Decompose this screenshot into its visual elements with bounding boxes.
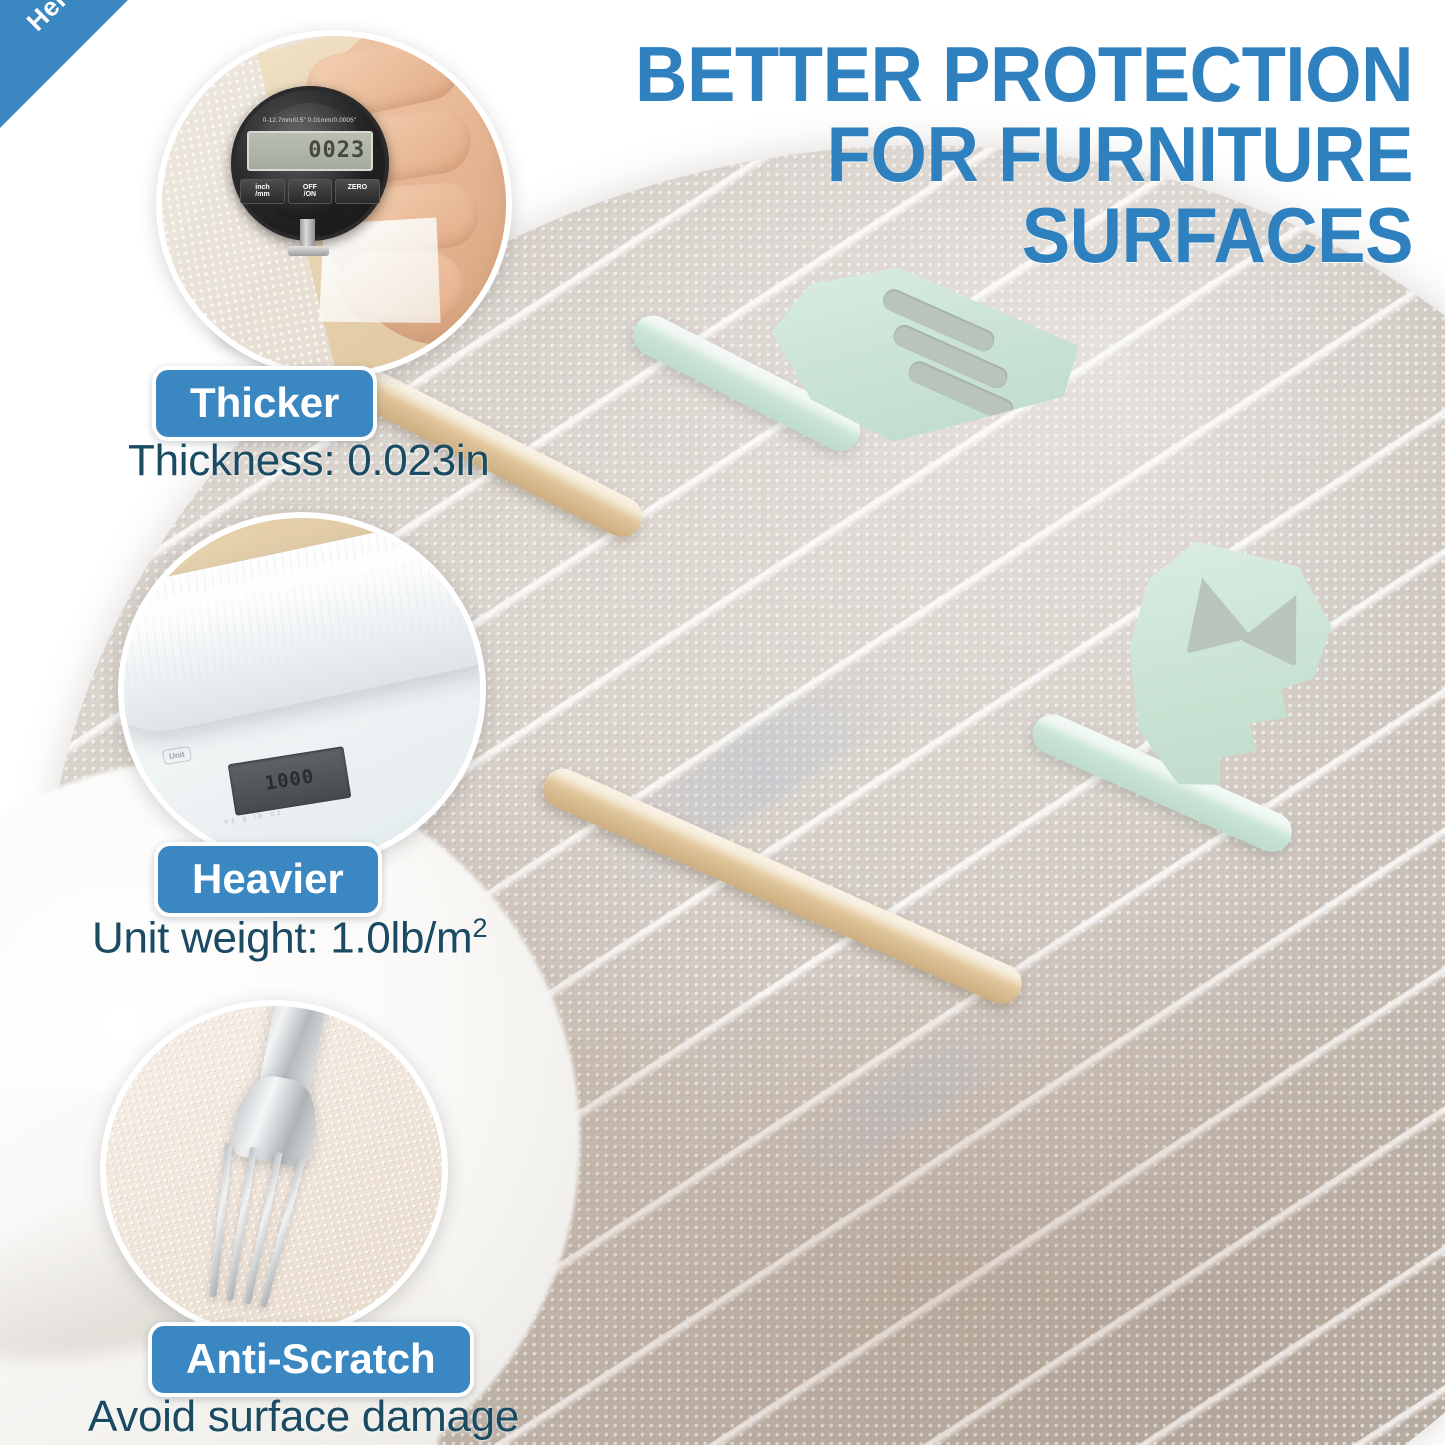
pasta-server-cutout-left bbox=[1169, 569, 1252, 653]
feature-photo-scratch bbox=[100, 1000, 448, 1340]
gauge-foot bbox=[288, 246, 329, 257]
title-line-1: BETTER PROTECTION bbox=[576, 34, 1413, 114]
fork-tine-4 bbox=[259, 1156, 306, 1307]
feature-photo-thickness: 0-12.7mm/0.5" 0.01mm/0.0005" 0023 inch/m… bbox=[156, 30, 512, 378]
pasta-server bbox=[1040, 520, 1445, 1160]
pasta-server-cutout-right bbox=[1240, 582, 1324, 668]
gauge-zero-button[interactable]: ZERO bbox=[335, 179, 379, 204]
caption-scratch: Avoid surface damage bbox=[88, 1392, 519, 1442]
badge-anti-scratch: Anti-Scratch bbox=[148, 1322, 474, 1397]
gauge-lcd: 0023 bbox=[247, 131, 374, 171]
title-line-2: FOR FURNITURE bbox=[576, 114, 1413, 194]
gauge-spec-label: 0-12.7mm/0.5" 0.01mm/0.0005" bbox=[249, 118, 371, 124]
spatula-head bbox=[741, 249, 1089, 467]
page-title: BETTER PROTECTION FOR FURNITURE SURFACES bbox=[576, 34, 1413, 275]
badge-heavier: Heavier bbox=[154, 842, 382, 917]
gauge-off-on-button[interactable]: OFF/ON bbox=[288, 179, 332, 204]
caption-weight-exponent: 2 bbox=[472, 912, 487, 943]
product-infographic: Hersvin BETTER PROTECTION FOR FURNITURE … bbox=[0, 0, 1445, 1445]
digital-thickness-gauge: 0-12.7mm/0.5" 0.01mm/0.0005" 0023 inch/m… bbox=[231, 86, 389, 241]
caption-weight: Unit weight: 1.0lb/m2 bbox=[92, 912, 487, 964]
gauge-reading: 0023 bbox=[308, 140, 365, 162]
caption-thickness: Thickness: 0.023in bbox=[128, 436, 489, 486]
title-line-3: SURFACES bbox=[576, 195, 1413, 275]
badge-thicker: Thicker bbox=[152, 366, 377, 441]
scale-reading: 1000 bbox=[263, 768, 315, 795]
gauge-inch-mm-button[interactable]: inch/mm bbox=[240, 179, 284, 204]
caption-weight-text: Unit weight: 1.0lb/m bbox=[92, 914, 472, 963]
feature-photo-weight: Unit 1000 oz g lb:oz bbox=[118, 512, 486, 868]
gauge-button-row: inch/mm OFF/ON ZERO bbox=[240, 179, 379, 204]
